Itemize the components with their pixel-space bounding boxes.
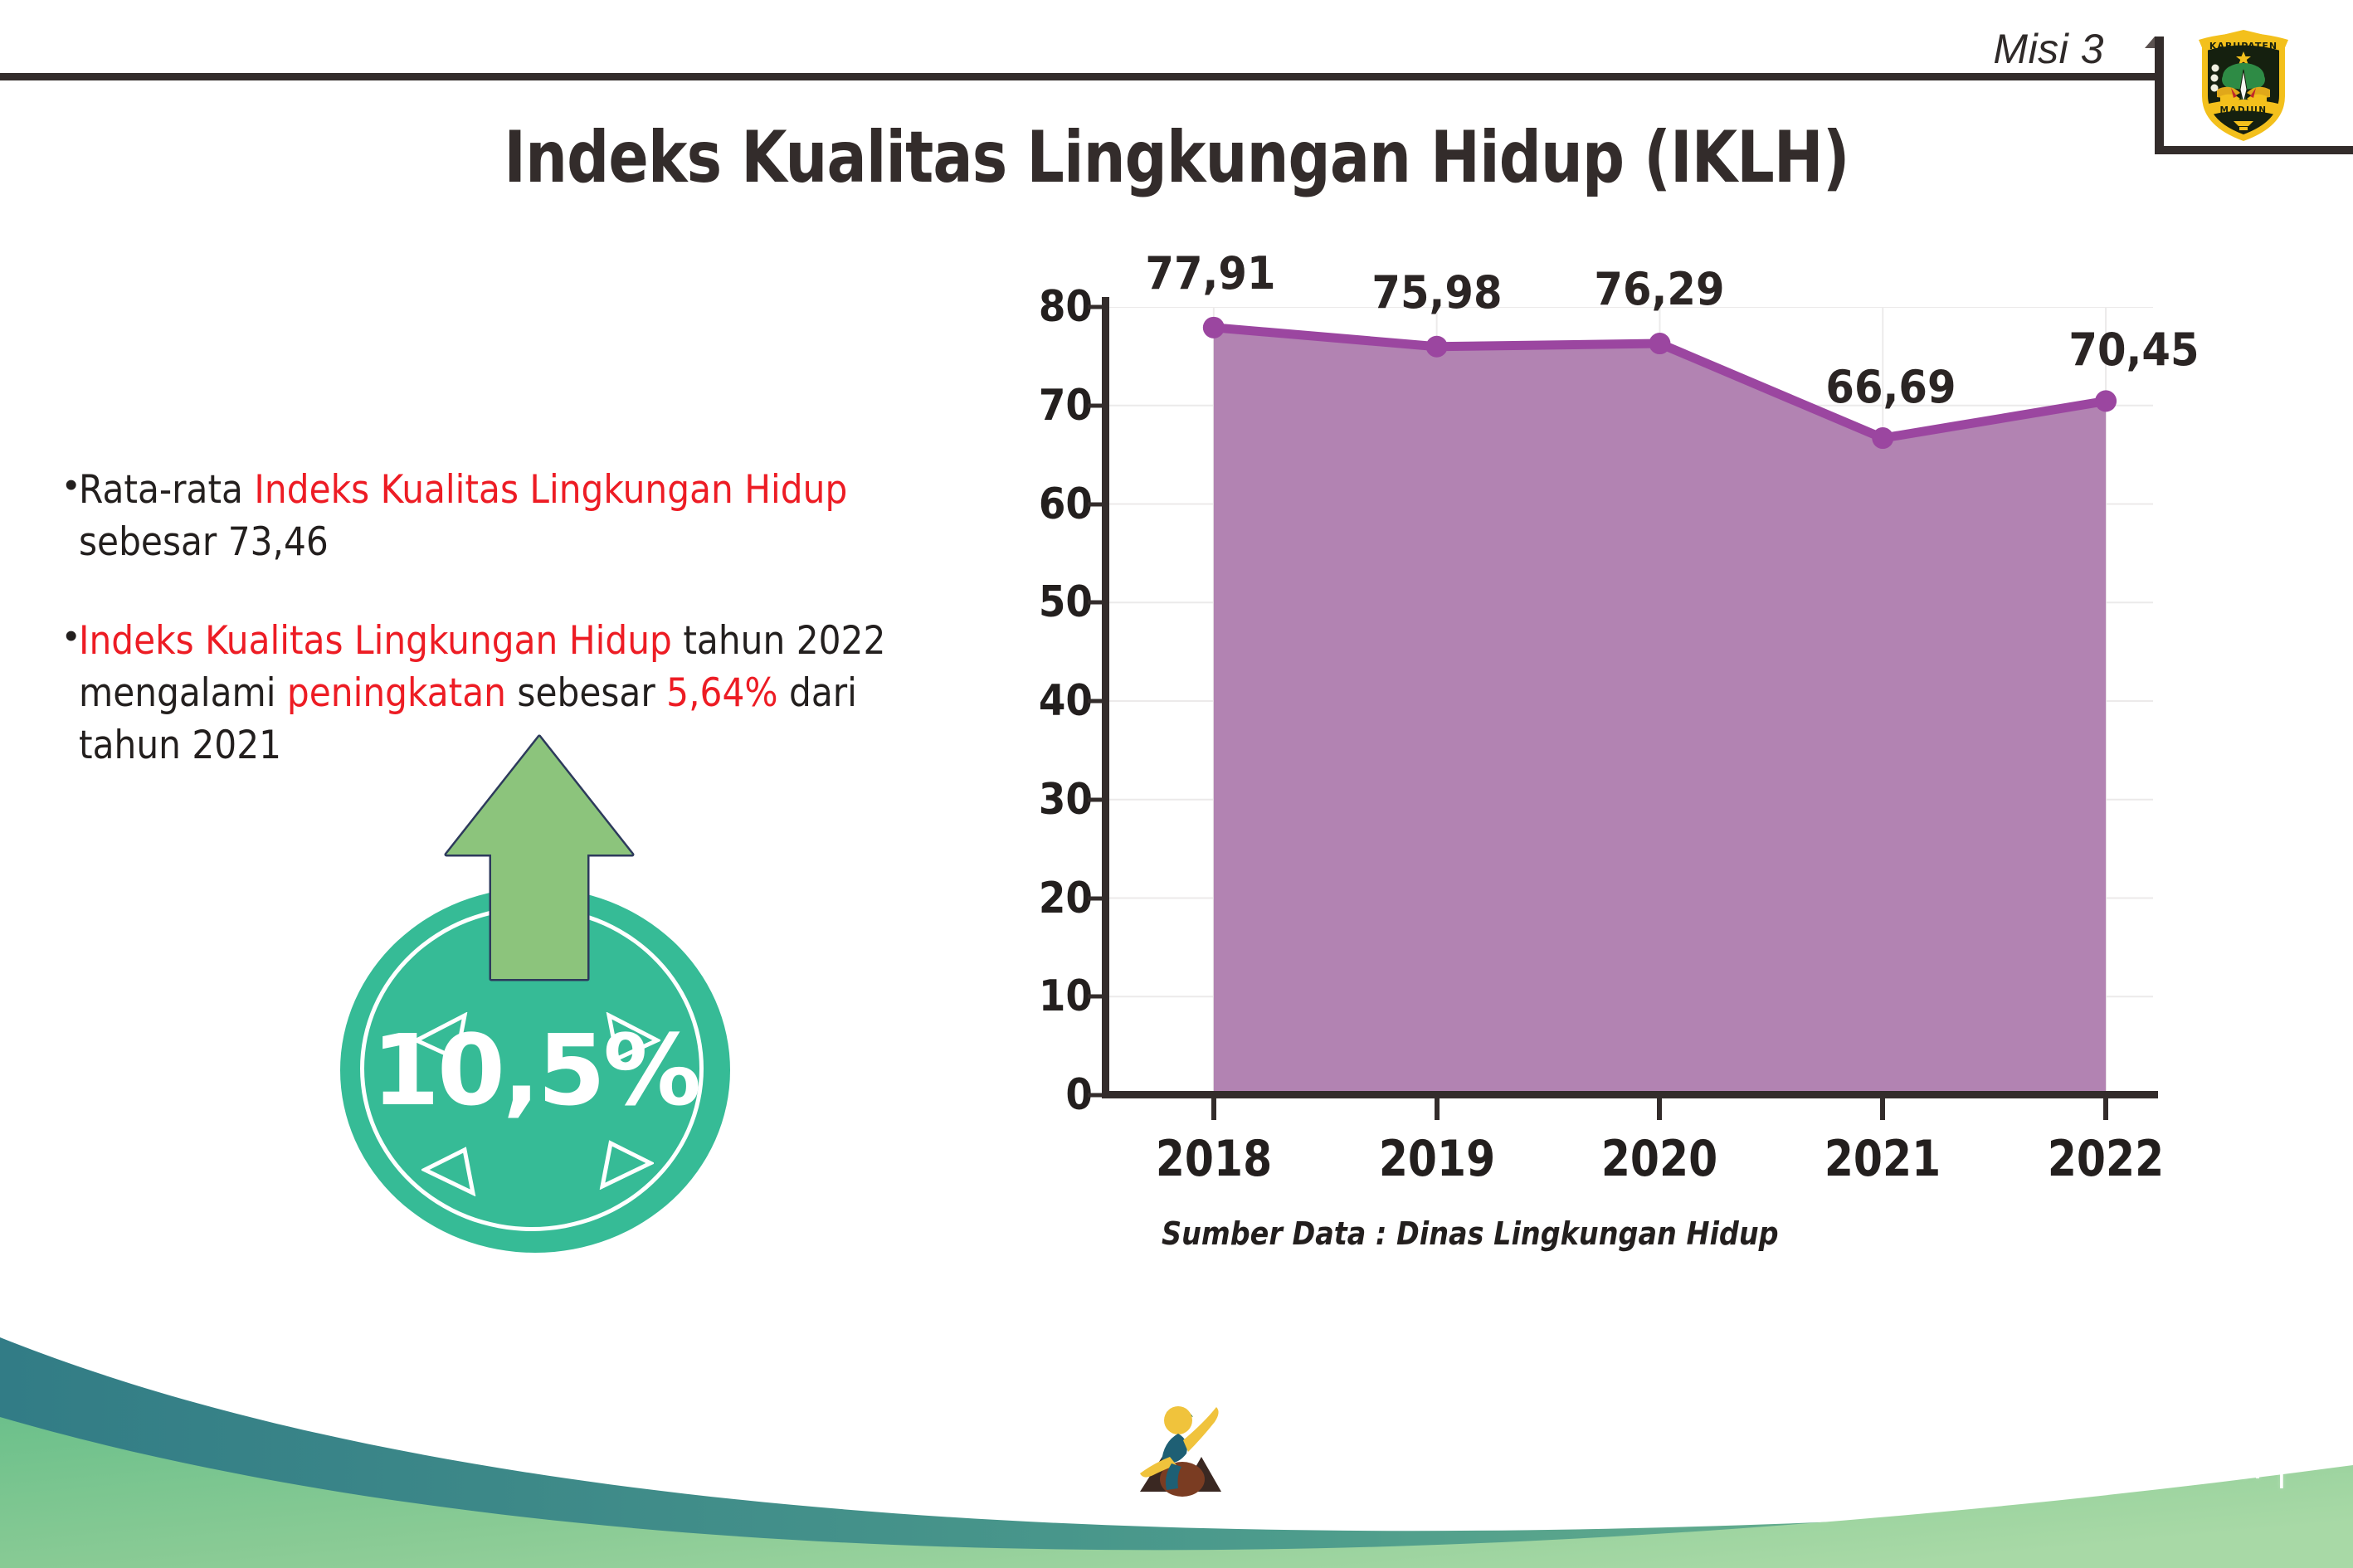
y-axis-line [1102, 297, 1109, 1095]
chart-svg [1103, 307, 2153, 1095]
badge-percent-value: 10,5% [340, 888, 730, 1253]
data-label: 70,45 [2068, 324, 2199, 376]
bullet-segment: Rata-rata [79, 467, 254, 513]
y-axis-label: 20 [1003, 874, 1093, 923]
y-axis-label: 80 [1003, 282, 1093, 332]
x-axis-label: 2018 [1156, 1130, 1272, 1188]
bullet-segment-highlight: 5,64% [667, 670, 778, 716]
header-rule-vertical [2155, 37, 2164, 154]
x-axis-label: 2022 [2048, 1130, 2164, 1188]
y-axis-label: 50 [1003, 577, 1093, 627]
bullet-marker-icon: • [65, 619, 77, 654]
x-axis-tick [1657, 1097, 1662, 1120]
y-axis-tick [1088, 601, 1104, 605]
x-axis-tick [1435, 1097, 1440, 1120]
x-axis-label: 2021 [1824, 1130, 1941, 1188]
data-label: 75,98 [1371, 266, 1502, 319]
y-axis-label: 70 [1003, 381, 1093, 431]
x-axis-label: 2019 [1378, 1130, 1494, 1188]
chart-plot-area [1103, 307, 2153, 1095]
x-axis-label: 2020 [1601, 1130, 1717, 1188]
kabupaten-madiun-coat-of-arms-icon: KABUPATEN MADIUN [2194, 18, 2293, 144]
y-axis-tick [1088, 1093, 1104, 1098]
misi-label: Misi 3 [1993, 25, 2104, 73]
y-axis-tick [1088, 403, 1104, 407]
y-axis-label: 10 [1003, 971, 1093, 1021]
y-axis-tick [1088, 502, 1104, 506]
bullet-marker-icon: • [65, 468, 77, 503]
source-note: Sumber Data : Dinas Lingkungan Hidup [1162, 1215, 1779, 1252]
bullet-segment-highlight: peningkatan [287, 670, 506, 716]
y-axis-label: 40 [1003, 676, 1093, 726]
y-axis-tick [1088, 797, 1104, 801]
y-axis-label: 60 [1003, 480, 1093, 529]
statistik-person-logo-icon [1135, 1394, 1225, 1510]
x-axis-tick [2103, 1097, 2108, 1120]
y-axis-label: 0 [1003, 1070, 1093, 1120]
svg-text:KABUPATEN: KABUPATEN [2209, 41, 2277, 51]
header-rule-bottom [2155, 146, 2353, 154]
svg-text:MADIUN: MADIUN [2220, 105, 2268, 115]
increase-badge: 10,5% [324, 730, 755, 1244]
bullet-segment: sebesar 73,46 [79, 519, 329, 565]
y-axis-tick [1088, 305, 1104, 309]
y-axis-tick [1088, 699, 1104, 704]
bullet-item-average: • Rata-rata Indeks Kualitas Lingkungan H… [65, 465, 994, 569]
x-axis-tick [1211, 1097, 1216, 1120]
header-rule-horizontal [0, 73, 2162, 80]
y-axis-tick [1088, 995, 1104, 999]
y-axis-tick [1088, 896, 1104, 900]
y-axis-label: 30 [1003, 775, 1093, 825]
data-label: 76,29 [1595, 263, 1725, 315]
bullet-text-average: Rata-rata Indeks Kualitas Lingkungan Hid… [79, 465, 902, 569]
footer-text: Media Infografis Data Statistik Sektoral… [1220, 1440, 2287, 1488]
data-label: 77,91 [1145, 247, 1275, 299]
bullet-segment-highlight: Indeks Kualitas Lingkungan Hidup [255, 467, 848, 513]
x-axis-tick [1880, 1097, 1885, 1120]
iklh-area-chart: 010203040506070802018201920202021202277,… [975, 290, 2153, 1203]
data-label: 66,69 [1826, 361, 1956, 413]
page-title: Indeks Kualitas Lingkungan Hidup (IKLH) [200, 116, 2153, 199]
bullet-segment-highlight: Indeks Kualitas Lingkungan Hidup [79, 618, 672, 664]
bullet-segment: sebesar [506, 670, 666, 716]
x-axis-line [1102, 1091, 2158, 1098]
